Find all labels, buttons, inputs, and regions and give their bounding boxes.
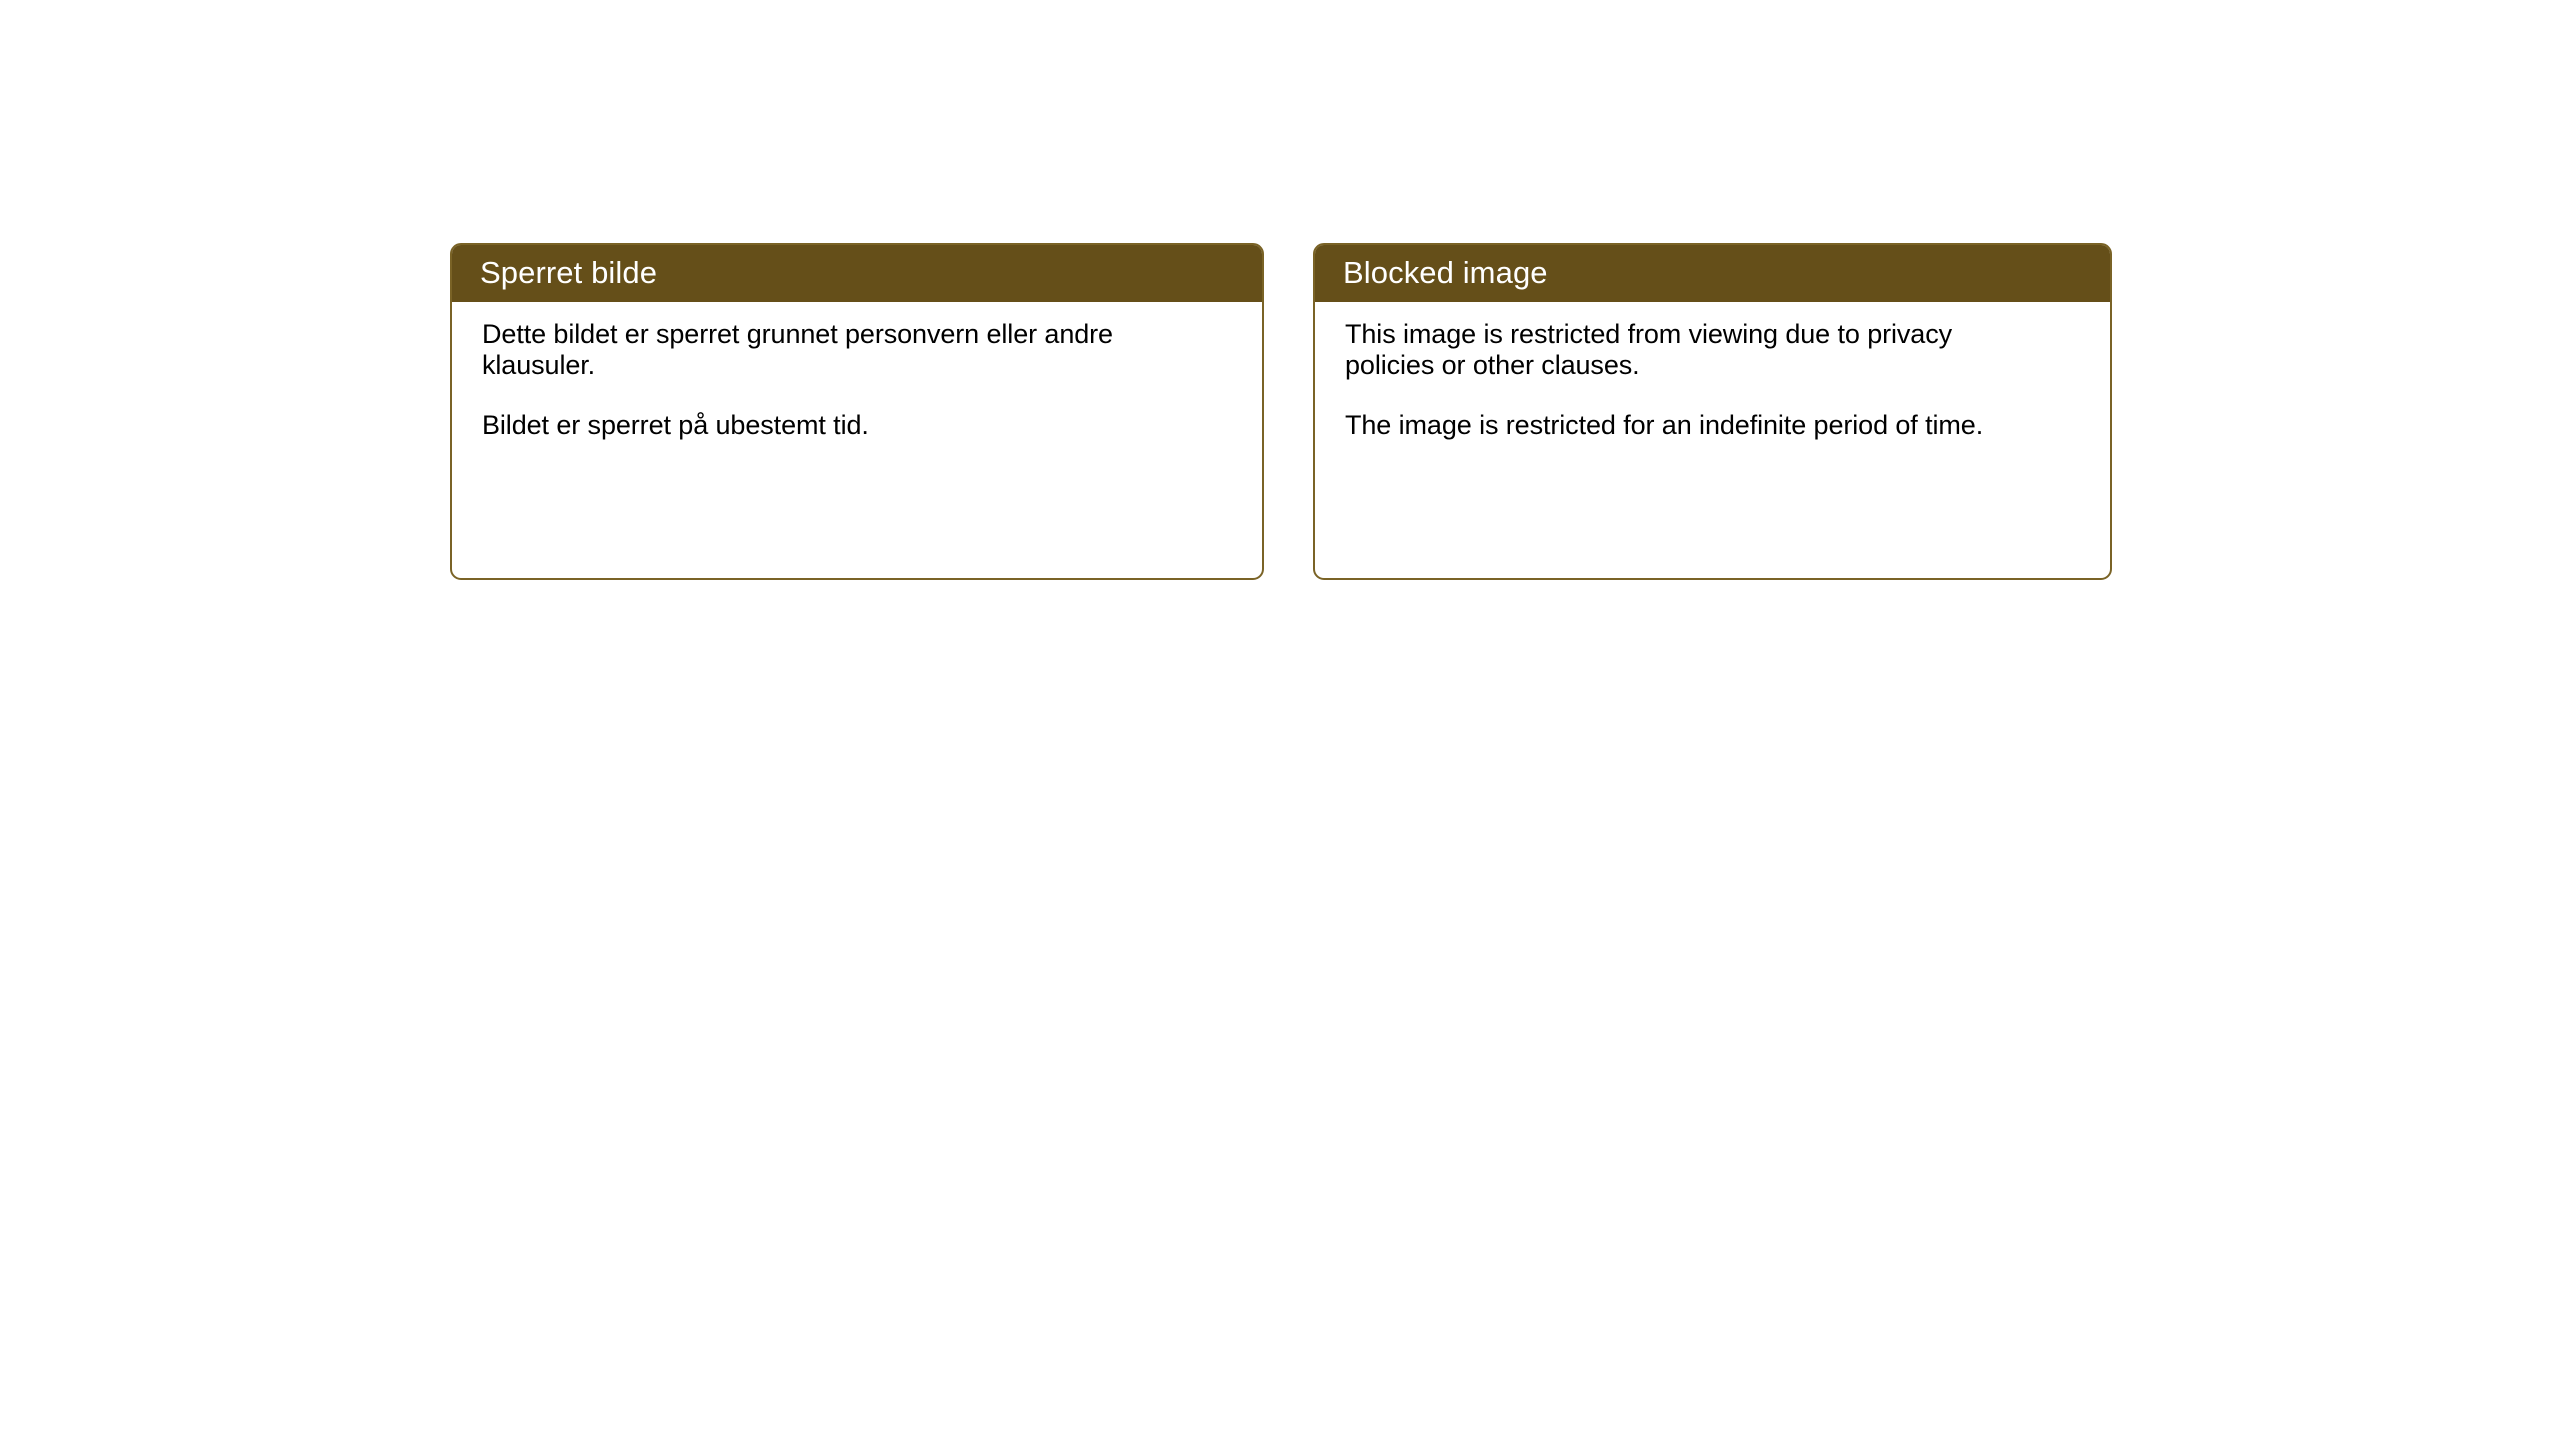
blocked-image-notice-card-english: Blocked image This image is restricted f… (1313, 243, 2112, 580)
blocked-image-notice-card-norwegian: Sperret bilde Dette bildet er sperret gr… (450, 243, 1264, 580)
card-body-english: This image is restricted from viewing du… (1315, 302, 2110, 441)
card-paragraph-reason-english: This image is restricted from viewing du… (1345, 319, 2035, 380)
card-body-norwegian: Dette bildet er sperret grunnet personve… (452, 302, 1262, 441)
card-paragraph-reason-norwegian: Dette bildet er sperret grunnet personve… (482, 319, 1182, 380)
card-header-norwegian: Sperret bilde (450, 243, 1264, 302)
card-title-norwegian: Sperret bilde (480, 257, 657, 288)
card-paragraph-duration-norwegian: Bildet er sperret på ubestemt tid. (482, 410, 1182, 441)
card-paragraph-duration-english: The image is restricted for an indefinit… (1345, 410, 2035, 441)
card-header-english: Blocked image (1313, 243, 2112, 302)
page-canvas: Sperret bilde Dette bildet er sperret gr… (0, 0, 2560, 1440)
card-title-english: Blocked image (1343, 257, 1548, 288)
